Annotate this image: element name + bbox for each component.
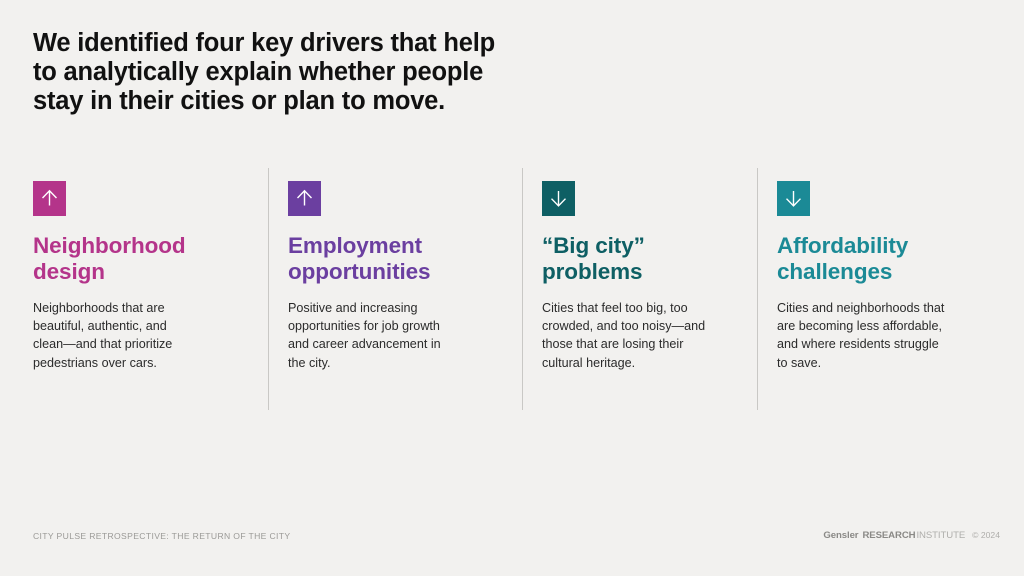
driver-column-affordability-challenges: Affordability challenges Cities and neig… <box>757 168 992 410</box>
driver-body-line-2: opportunities for job growth <box>288 317 504 335</box>
driver-body-line-4: to save. <box>777 354 974 372</box>
driver-body-line-3: and where residents struggle <box>777 335 974 353</box>
driver-body-line-2: are becoming less affordable, <box>777 317 974 335</box>
headline-line-1: We identified four key drivers that help <box>33 29 633 58</box>
arrow-down-icon <box>777 181 810 216</box>
driver-column-big-city-problems: “Big city” problems Cities that feel too… <box>522 168 757 410</box>
driver-column-neighborhood-design: Neighborhood design Neighborhoods that a… <box>33 168 268 410</box>
copyright-notice: © 2024 <box>972 530 1000 540</box>
driver-body-line-1: Cities that feel too big, too <box>542 299 739 317</box>
driver-body-line-4: cultural heritage. <box>542 354 739 372</box>
driver-heading-line-1: Neighborhood <box>33 233 250 259</box>
brand-gensler: Gensler <box>823 530 858 541</box>
footer-brand: Gensler RESEARCH INSTITUTE © 2024 <box>823 530 1000 541</box>
brand-institute: INSTITUTE <box>916 530 965 541</box>
headline-line-2: to analytically explain whether people <box>33 58 633 87</box>
driver-heading-line-1: Employment <box>288 233 504 259</box>
arrow-up-icon <box>33 181 66 216</box>
driver-heading: Employment opportunities <box>288 233 504 285</box>
drivers-list: Neighborhood design Neighborhoods that a… <box>33 168 991 410</box>
driver-body-line-2: crowded, and too noisy—and <box>542 317 739 335</box>
driver-body-line-1: Neighborhoods that are <box>33 299 250 317</box>
driver-body: Positive and increasing opportunities fo… <box>288 299 504 372</box>
driver-body: Cities that feel too big, too crowded, a… <box>542 299 739 372</box>
brand-research: RESEARCH <box>862 530 915 541</box>
footer-document-title: CITY PULSE RETROSPECTIVE: THE RETURN OF … <box>33 531 290 541</box>
driver-heading-line-1: Affordability <box>777 233 974 259</box>
driver-body-line-3: and career advancement in <box>288 335 504 353</box>
headline-line-3: stay in their cities or plan to move. <box>33 87 633 116</box>
driver-heading-line-2: problems <box>542 259 739 285</box>
driver-body-line-1: Cities and neighborhoods that <box>777 299 974 317</box>
arrow-up-icon <box>288 181 321 216</box>
driver-body-line-1: Positive and increasing <box>288 299 504 317</box>
driver-heading-line-1: “Big city” <box>542 233 739 259</box>
driver-heading-line-2: opportunities <box>288 259 504 285</box>
driver-body-line-4: the city. <box>288 354 504 372</box>
driver-body-line-2: beautiful, authentic, and <box>33 317 250 335</box>
driver-heading-line-2: challenges <box>777 259 974 285</box>
driver-heading-line-2: design <box>33 259 250 285</box>
driver-body-line-3: clean—and that prioritize <box>33 335 250 353</box>
driver-heading: Neighborhood design <box>33 233 250 285</box>
driver-body-line-3: those that are losing their <box>542 335 739 353</box>
page-title: We identified four key drivers that help… <box>33 29 633 116</box>
driver-body: Cities and neighborhoods that are becomi… <box>777 299 974 372</box>
driver-column-employment-opportunities: Employment opportunities Positive and in… <box>268 168 522 410</box>
driver-heading: “Big city” problems <box>542 233 739 285</box>
slide: We identified four key drivers that help… <box>0 0 1024 576</box>
driver-body-line-4: pedestrians over cars. <box>33 354 250 372</box>
arrow-down-icon <box>542 181 575 216</box>
driver-body: Neighborhoods that are beautiful, authen… <box>33 299 250 372</box>
driver-heading: Affordability challenges <box>777 233 974 285</box>
